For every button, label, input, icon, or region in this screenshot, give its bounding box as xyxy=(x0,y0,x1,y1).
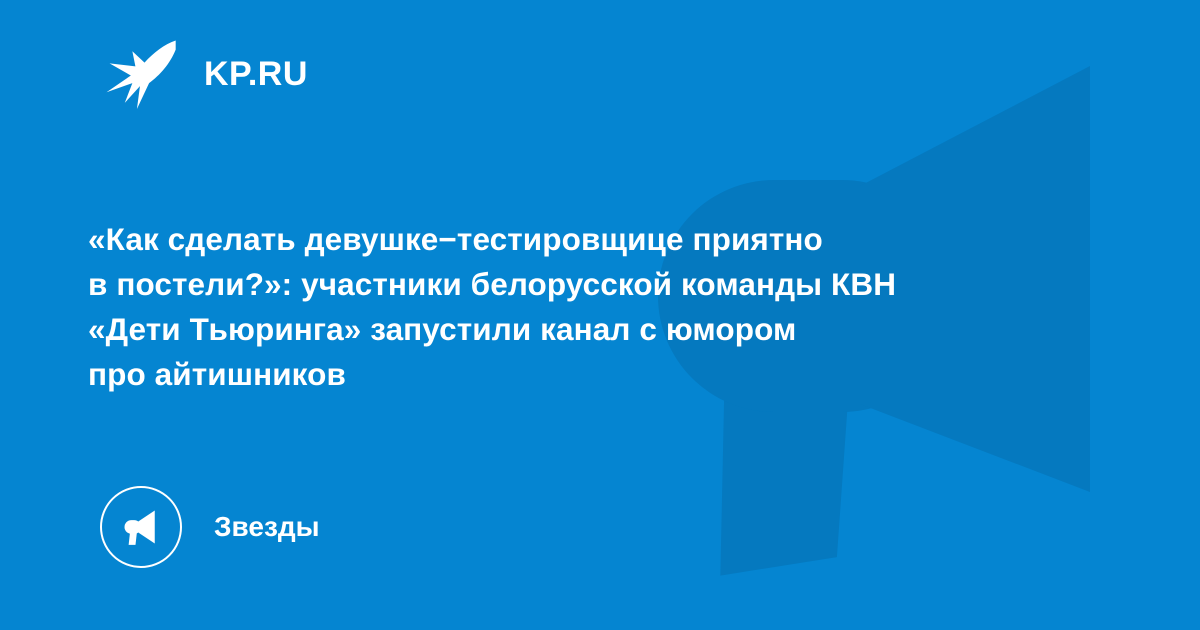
headline-line-1: «Как сделать девушке−тестировщице приятн… xyxy=(88,217,1088,262)
swallow-bird-icon xyxy=(104,36,182,112)
megaphone-icon xyxy=(100,486,182,568)
headline-line-3: «Дети Тьюринга» запустили канал с юмором xyxy=(88,307,1088,352)
share-card: KP.RU «Как сделать девушке−тестировщице … xyxy=(0,0,1200,630)
headline: «Как сделать девушке−тестировщице приятн… xyxy=(88,217,1088,397)
headline-line-4: про айтишников xyxy=(88,352,1088,397)
site-wordmark: KP.RU xyxy=(204,57,308,91)
category-label: Звезды xyxy=(214,513,320,541)
site-header: KP.RU xyxy=(104,36,308,112)
headline-line-2: в постели?»: участники белорусской коман… xyxy=(88,262,1088,307)
category-badge[interactable]: Звезды xyxy=(100,486,320,568)
